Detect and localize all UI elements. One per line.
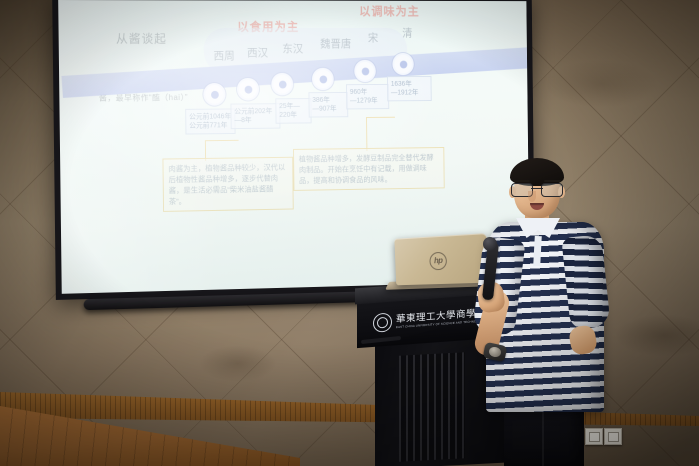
photo-vignette <box>0 0 699 466</box>
photo-scene: 从酱谈起 酱，最早称作“醢（hai）” 以食用为主 以调味为主 西周 西汉 东汉… <box>0 0 699 466</box>
